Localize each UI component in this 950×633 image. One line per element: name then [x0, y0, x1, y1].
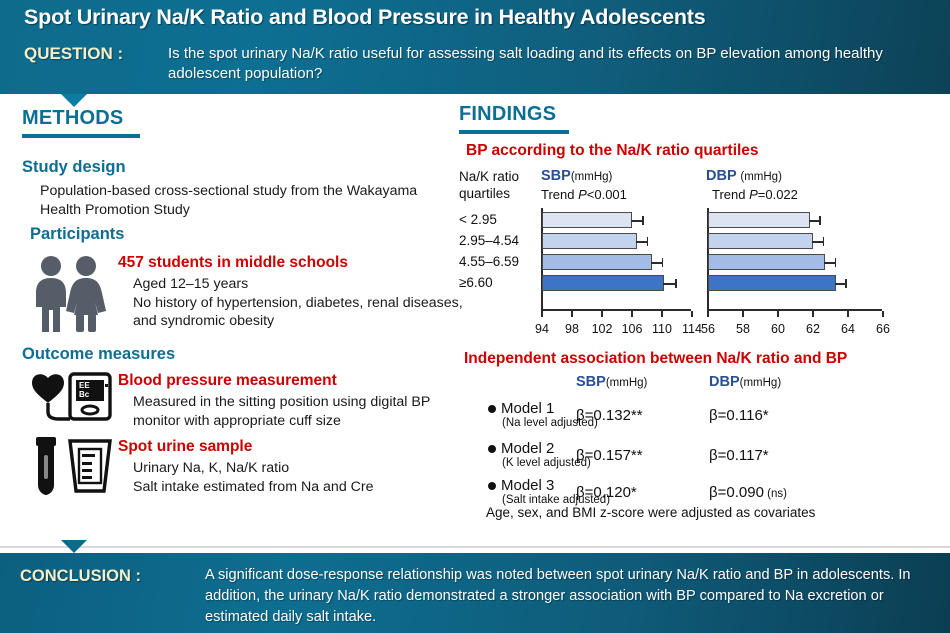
sbp-label: SBP: [541, 168, 571, 184]
error-bar: [835, 283, 846, 285]
ns-marker: (ns): [764, 488, 787, 500]
quartile-category-label: 4.55–6.59: [459, 254, 519, 269]
dbp-trend-p: Trend P=0.022: [712, 187, 798, 202]
bullet-icon: [488, 445, 496, 453]
dbp-unit: (mmHg): [740, 171, 782, 183]
bp-measurement-detail: Measured in the sitting position using d…: [133, 393, 463, 430]
model-name: Model 1: [501, 400, 554, 417]
assoc-col-sbp: SBP(mmHg): [576, 374, 647, 390]
model-dbp-value: β=0.116*: [709, 407, 769, 424]
section-divider: [0, 546, 950, 548]
axis-tick-label: 64: [841, 322, 855, 336]
outcome-measures-heading: Outcome measures: [22, 345, 175, 364]
association-heading: Independent association between Na/K rat…: [464, 350, 847, 368]
error-bar-cap: [823, 237, 825, 246]
bullet-icon: [488, 405, 496, 413]
bullet-icon: [488, 482, 496, 490]
conclusion-arrow-icon: [61, 540, 87, 553]
findings-heading: FINDINGS: [459, 103, 556, 129]
quartile-category-label: ≥6.60: [459, 275, 493, 290]
chart-title: BP according to the Na/K ratio quartiles: [466, 142, 759, 160]
bar: [708, 212, 810, 228]
svg-text:Bc: Bc: [79, 390, 90, 399]
two-people-icon: [30, 255, 110, 333]
conclusion-text: A significant dose-response relationship…: [205, 565, 930, 628]
axis-tick-label: 60: [771, 322, 785, 336]
dbp-panel-title: DBP (mmHg): [706, 168, 782, 184]
error-bar-cap: [647, 237, 649, 246]
findings-underline: [459, 130, 569, 134]
urine-sample-icon: [26, 435, 112, 497]
axis-tick: [691, 311, 693, 317]
axis-tick: [631, 311, 633, 317]
axis-tick: [882, 311, 884, 317]
axis-tick: [847, 311, 849, 317]
dbp-plot: 565860626466: [707, 208, 892, 338]
quartile-category-label: < 2.95: [459, 212, 497, 227]
error-bar-cap: [835, 258, 837, 267]
axis-tick-label: 66: [876, 322, 890, 336]
dbp-label: DBP: [706, 168, 736, 184]
bar: [708, 233, 813, 249]
question-label: QUESTION :: [24, 44, 123, 64]
assoc-col-dbp: DBP(mmHg): [709, 374, 781, 390]
study-design-heading: Study design: [22, 158, 126, 177]
bp-measurement-heading: Blood pressure measurement: [118, 372, 337, 390]
question-text: Is the spot urinary Na/K ratio useful fo…: [168, 44, 928, 84]
error-bar: [809, 220, 820, 222]
svg-text:EE: EE: [79, 381, 90, 390]
urine-sample-heading: Spot urine sample: [118, 438, 252, 456]
quartile-axis-caption: Na/K ratio quartiles: [459, 168, 519, 202]
participants-count: 457 students in middle schools: [118, 254, 348, 272]
bar: [708, 275, 836, 291]
model-dbp-value: β=0.117*: [709, 447, 769, 464]
axis-tick-label: 98: [565, 322, 579, 336]
urine-sample-detail: Urinary Na, K, Na/K ratio Salt intake es…: [133, 459, 463, 496]
model-sbp-value: β=0.120*: [576, 484, 637, 501]
axis-tick-label: 110: [652, 322, 672, 336]
quartile-category-label: 2.95–4.54: [459, 233, 519, 248]
category-axis-line: [541, 309, 691, 311]
graphical-abstract-page: Spot Urinary Na/K Ratio and Blood Pressu…: [0, 0, 950, 633]
model-name: Model 2: [501, 440, 554, 457]
axis-tick-label: 114: [682, 322, 702, 336]
participants-heading: Participants: [30, 225, 124, 244]
covariates-footnote: Age, sex, and BMI z-score were adjusted …: [486, 505, 815, 520]
axis-tick-label: 94: [535, 322, 549, 336]
error-bar: [824, 262, 835, 264]
error-bar-cap: [675, 279, 677, 288]
bp-monitor-icon: EEBc: [26, 372, 112, 428]
axis-tick: [812, 311, 814, 317]
sbp-trend-p: Trend P<0.001: [541, 187, 627, 202]
axis-tick-label: 62: [806, 322, 820, 336]
error-bar-cap: [642, 216, 644, 225]
bar: [542, 233, 637, 249]
category-axis-line: [707, 309, 882, 311]
model-sbp-value: β=0.132**: [576, 407, 643, 424]
axis-tick: [661, 311, 663, 317]
bar: [542, 212, 632, 228]
error-bar-cap: [819, 216, 821, 225]
axis-tick: [707, 311, 709, 317]
axis-tick-label: 106: [622, 322, 643, 336]
axis-tick-label: 56: [701, 322, 715, 336]
sbp-unit: (mmHg): [571, 171, 613, 183]
axis-tick: [571, 311, 573, 317]
error-bar-cap: [845, 279, 847, 288]
study-design-text: Population-based cross-sectional study f…: [40, 182, 440, 219]
conclusion-banner: CONCLUSION : A significant dose-response…: [0, 553, 950, 633]
error-bar: [663, 283, 675, 285]
model-name: Model 3: [501, 477, 554, 494]
error-bar: [636, 241, 647, 243]
methods-arrow-icon: [61, 94, 87, 107]
header-banner: Spot Urinary Na/K Ratio and Blood Pressu…: [0, 0, 950, 94]
axis-tick: [541, 311, 543, 317]
sbp-panel-title: SBP(mmHg): [541, 168, 612, 184]
page-title: Spot Urinary Na/K Ratio and Blood Pressu…: [24, 5, 706, 30]
participants-detail: Aged 12–15 years No history of hypertens…: [133, 275, 463, 331]
error-bar: [651, 262, 662, 264]
bar: [542, 275, 664, 291]
error-bar: [631, 220, 642, 222]
axis-tick-label: 58: [736, 322, 750, 336]
sbp-plot: 9498102106110114: [541, 208, 701, 338]
axis-tick: [777, 311, 779, 317]
error-bar: [812, 241, 823, 243]
bar: [542, 254, 652, 270]
axis-tick-label: 102: [592, 322, 613, 336]
methods-underline: [22, 134, 140, 138]
model-dbp-value: β=0.090 (ns): [709, 484, 787, 501]
axis-tick: [601, 311, 603, 317]
model-sbp-value: β=0.157**: [576, 447, 643, 464]
bar: [708, 254, 825, 270]
axis-tick: [742, 311, 744, 317]
conclusion-label: CONCLUSION :: [20, 567, 141, 586]
methods-heading: METHODS: [22, 107, 123, 133]
error-bar-cap: [662, 258, 664, 267]
bp-quartile-chart: Na/K ratio quartiles SBP(mmHg) Trend P<0…: [459, 168, 945, 338]
